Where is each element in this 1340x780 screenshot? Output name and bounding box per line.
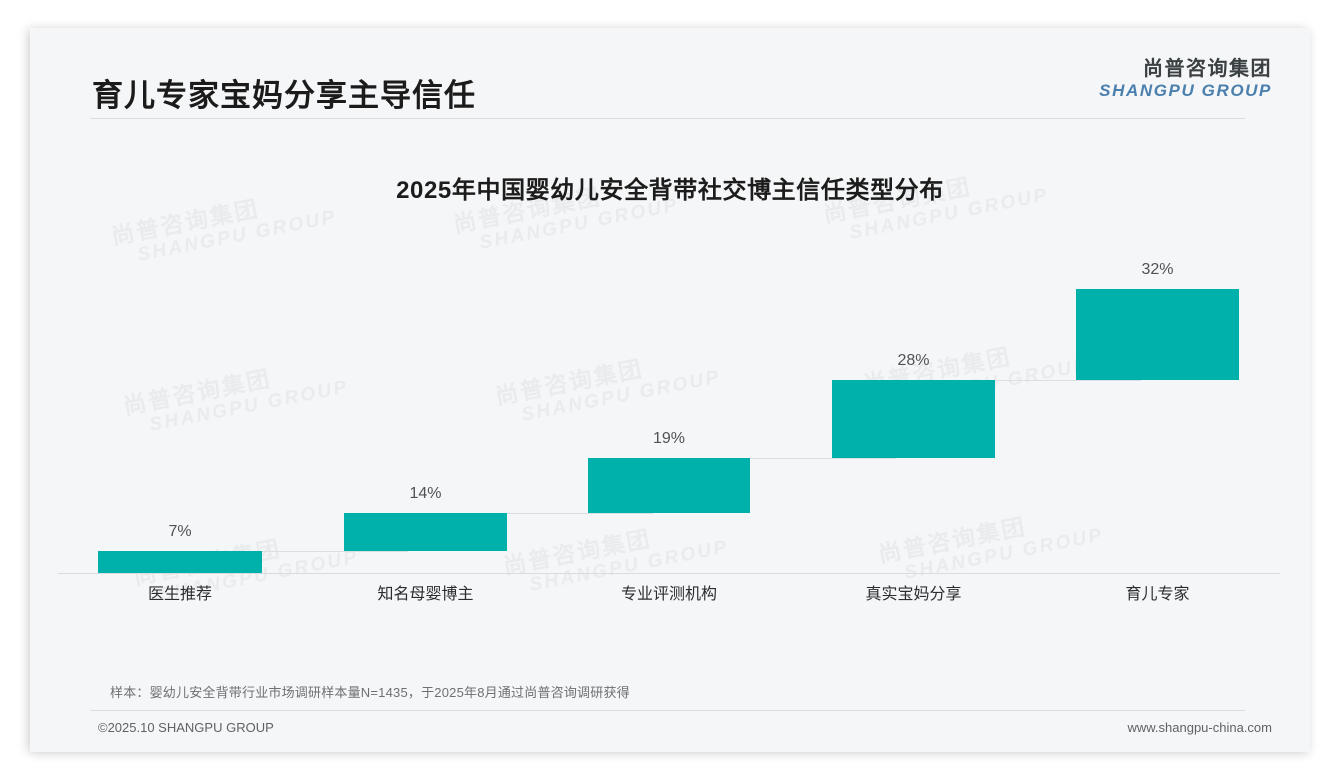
chart-title: 2025年中国婴幼儿安全背带社交博主信任类型分布 bbox=[30, 170, 1310, 205]
waterfall-chart: 7% 14% 19% 28% 32% 医生推荐 知名母婴博主 专业评测机构 真实… bbox=[30, 28, 1310, 752]
bar-segment[interactable] bbox=[832, 380, 995, 458]
logo-chinese-text: 尚普咨询集团 bbox=[1099, 58, 1272, 81]
slide-header: 育儿专家宝妈分享主导信任 尚普咨询集团 SHANGPU GROUP bbox=[30, 28, 1310, 120]
copyright-text: ©2025.10 SHANGPU GROUP bbox=[98, 720, 274, 735]
slide-card: 尚普咨询集团SHANGPU GROUP 尚普咨询集团SHANGPU GROUP … bbox=[30, 28, 1310, 752]
connector-line bbox=[995, 380, 1141, 381]
x-axis-category-label: 医生推荐 bbox=[98, 580, 262, 604]
bar-value-label: 28% bbox=[832, 352, 995, 370]
bar-value-label: 32% bbox=[1076, 261, 1239, 279]
page-title: 育儿专家宝妈分享主导信任 bbox=[92, 70, 476, 115]
website-link[interactable]: www.shangpu-china.com bbox=[1127, 720, 1272, 735]
bar-segment[interactable] bbox=[344, 513, 507, 551]
x-axis-category-label: 真实宝妈分享 bbox=[822, 580, 1005, 604]
x-axis-category-label: 知名母婴博主 bbox=[334, 580, 517, 604]
x-axis-category-label: 专业评测机构 bbox=[578, 580, 760, 604]
x-axis-line bbox=[58, 573, 1280, 574]
brand-logo: 尚普咨询集团 SHANGPU GROUP bbox=[1099, 58, 1272, 101]
x-axis-category-label: 育儿专家 bbox=[1076, 580, 1239, 604]
connector-line bbox=[507, 513, 653, 514]
bar-value-label: 19% bbox=[588, 430, 750, 448]
source-note: 样本：婴幼儿安全背带行业市场调研样本量N=1435，于2025年8月通过尚普咨询… bbox=[110, 682, 630, 701]
footer-divider bbox=[90, 710, 1245, 711]
bar-value-label: 14% bbox=[344, 485, 507, 503]
connector-line bbox=[750, 458, 896, 459]
logo-english-text: SHANGPU GROUP bbox=[1099, 81, 1272, 101]
bar-segment[interactable] bbox=[98, 551, 262, 573]
connector-line bbox=[262, 551, 408, 552]
bar-value-label: 7% bbox=[98, 523, 262, 541]
bar-segment[interactable] bbox=[1076, 289, 1239, 380]
header-divider bbox=[90, 118, 1245, 119]
bar-segment[interactable] bbox=[588, 458, 750, 513]
